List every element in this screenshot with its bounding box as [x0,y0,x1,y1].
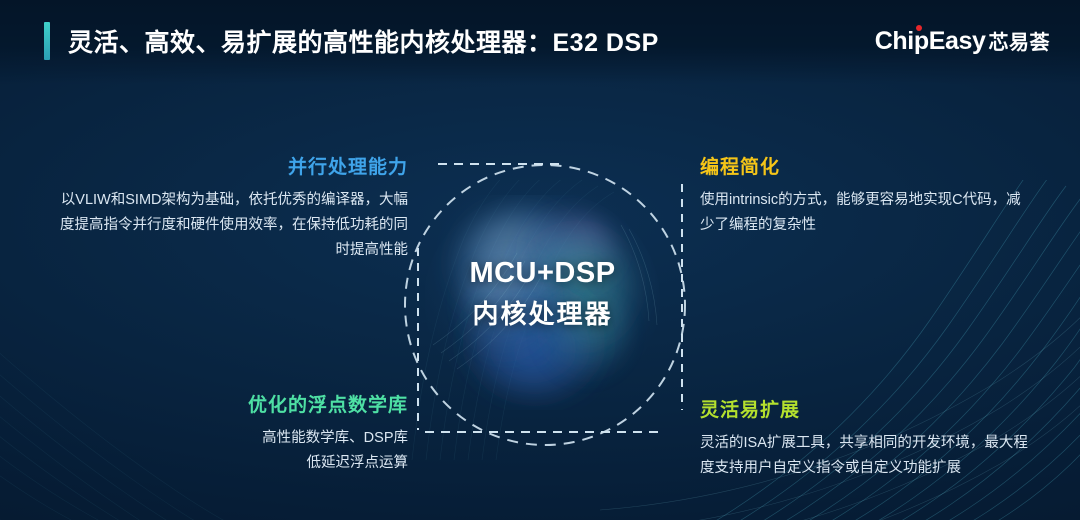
feature-float-math-heading: 优化的浮点数学库 [120,390,408,417]
feature-parallel-body: 以VLIW和SIMD架构为基础，依托优秀的编译器，大幅度提高指令并行度和硬件使用… [58,188,408,263]
connector-line-programming [681,184,683,410]
feature-parallel-processing: 并行处理能力 以VLIW和SIMD架构为基础，依托优秀的编译器，大幅度提高指令并… [58,152,408,263]
connector-line-float-math [417,248,419,430]
title-group: 灵活、高效、易扩展的高性能内核处理器：E32 DSP [44,22,659,60]
feature-programming-body: 使用intrinsic的方式，能够更容易地实现C代码，减少了编程的复杂性 [700,188,1030,238]
feature-programming-simplification: 编程简化 使用intrinsic的方式，能够更容易地实现C代码，减少了编程的复杂… [700,152,1030,238]
logo-dot-icon [916,25,922,31]
feature-flexible-extensible: 灵活易扩展 灵活的ISA扩展工具，共享相同的开发环境，最大程度支持用户自定义指令… [700,395,1030,481]
logo-english-text: ChipEasy [875,27,986,56]
page-title: 灵活、高效、易扩展的高性能内核处理器：E32 DSP [68,23,659,59]
core-label-group: MCU+DSP 内核处理器 [425,257,660,331]
core-title-primary: MCU+DSP [425,257,660,290]
core-sphere: MCU+DSP 内核处理器 [425,195,660,410]
feature-extensible-heading: 灵活易扩展 [700,395,1030,422]
slide-header: 灵活、高效、易扩展的高性能内核处理器：E32 DSP ChipEasy 芯易荟 [0,0,1080,84]
feature-optimized-float-math-library: 优化的浮点数学库 高性能数学库、DSP库低延迟浮点运算 [120,390,408,476]
logo-chinese-text: 芯易荟 [989,26,1051,55]
connector-line-parallel [438,163,560,165]
feature-parallel-heading: 并行处理能力 [58,152,408,179]
feature-float-math-body: 高性能数学库、DSP库低延迟浮点运算 [120,426,408,476]
slide-canvas: 灵活、高效、易扩展的高性能内核处理器：E32 DSP ChipEasy 芯易荟 [0,0,1080,520]
feature-extensible-body: 灵活的ISA扩展工具，共享相同的开发环境，最大程度支持用户自定义指令或自定义功能… [700,431,1030,481]
brand-logo[interactable]: ChipEasy 芯易荟 [875,26,1050,56]
title-accent-bar [44,22,50,60]
feature-programming-heading: 编程简化 [700,152,1030,179]
core-title-secondary: 内核处理器 [425,294,660,331]
connector-line-extensible [425,431,665,433]
